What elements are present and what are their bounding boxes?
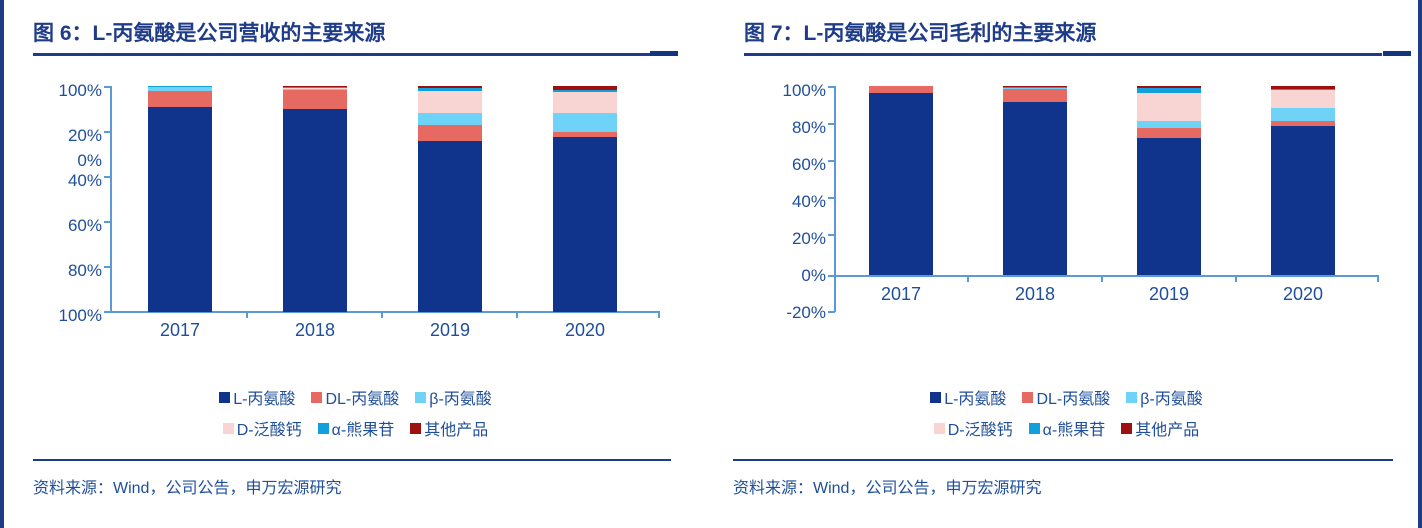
legend-item-l-alanine[interactable]: L-丙氨酸 [930,385,1006,409]
legend-row: D-泛酸钙 α-熊果苷 其他产品 [0,416,711,440]
legend-row: L-丙氨酸 DL-丙氨酸 β-丙氨酸 [0,385,711,409]
bar-2019 [1137,86,1201,275]
segment-l-alanine [1271,126,1335,275]
footer-divider [733,459,1393,461]
figure-panel-left: 图 6：L-丙氨酸是公司营收的主要来源 0% 100% 80% 60% 40% … [0,0,711,528]
y-tick-label: 20% [22,126,102,146]
x-axis-tick [381,311,383,318]
segment-l-alanine [148,107,212,312]
page-title: 图 7：L-丙氨酸是公司毛利的主要来源 [744,17,1096,47]
x-axis-tick [246,311,248,318]
segment-d-pantothenate [1137,93,1201,121]
legend-item-dl-alanine[interactable]: DL-丙氨酸 [1022,385,1110,409]
legend-label: L-丙氨酸 [233,385,295,409]
chart-legend: L-丙氨酸 DL-丙氨酸 β-丙氨酸 D-泛酸钙 α-熊果苷 [0,385,711,447]
title-divider [33,53,671,56]
bar-2020 [553,86,617,312]
segment-l-alanine [418,141,482,312]
segment-d-pantothenate [1271,90,1335,108]
y-axis-tick [828,86,835,88]
y-tick-label: 100% [721,81,826,101]
x-tick-label: 2019 [400,320,500,341]
y-tick-label: 20% [721,229,826,249]
legend-swatch-icon [415,392,426,403]
y-tick-label: 80% [721,118,826,138]
legend-item-other[interactable]: 其他产品 [1121,416,1199,440]
y-tick-label: 100% [22,81,102,101]
segment-dl-alanine [418,125,482,141]
legend-label: L-丙氨酸 [944,385,1006,409]
bar-2019 [418,86,482,312]
x-axis-tick [1101,275,1103,282]
figure-page: 图 6：L-丙氨酸是公司营收的主要来源 0% 100% 80% 60% 40% … [0,0,1422,528]
legend-swatch-icon [1029,423,1040,434]
legend-label: D-泛酸钙 [948,416,1013,440]
x-tick-label: 2019 [1119,284,1219,305]
legend-swatch-icon [318,423,329,434]
x-axis-tick [516,311,518,318]
y-axis-tick [828,123,835,125]
legend-swatch-icon [1126,392,1137,403]
bar-2020 [1271,86,1335,275]
segment-dl-alanine [869,86,933,93]
legend-item-alpha-arbutin[interactable]: α-熊果苷 [1029,416,1106,440]
segment-dl-alanine [283,90,347,109]
chart-revenue-mix: 0% 100% 80% 60% 40% 20% 100% [0,70,711,360]
segment-dl-alanine [148,91,212,106]
y-axis-line [110,86,112,312]
source-note: 资料来源：Wind，公司公告，申万宏源研究 [33,474,341,498]
legend-item-dl-alanine[interactable]: DL-丙氨酸 [311,385,399,409]
figure-panel-right: 图 7：L-丙氨酸是公司毛利的主要来源 100% 80% 60% 40% 20%… [711,0,1422,528]
y-tick-label: 0% [22,151,102,171]
x-tick-label: 2020 [1253,284,1353,305]
legend-item-d-pantothenate[interactable]: D-泛酸钙 [934,416,1013,440]
y-tick-label: 0% [721,266,826,286]
x-tick-label: 2018 [985,284,1085,305]
legend-swatch-icon [1022,392,1033,403]
y-tick-label: 40% [22,171,102,191]
title-accent-mark [1383,51,1411,56]
segment-d-pantothenate [553,92,617,113]
x-axis-tick [1377,275,1379,282]
y-axis-tick [828,197,835,199]
title-divider [744,53,1382,56]
x-tick-label: 2017 [851,284,951,305]
y-axis-tick [104,221,111,223]
legend-label: D-泛酸钙 [237,416,302,440]
chart-gross-profit-mix: 100% 80% 60% 40% 20% 0% -20% [711,70,1422,370]
segment-l-alanine [553,137,617,312]
chart-legend: L-丙氨酸 DL-丙氨酸 β-丙氨酸 D-泛酸钙 α-熊果苷 [711,385,1422,447]
y-axis-tick [828,234,835,236]
y-axis-tick [104,176,111,178]
legend-row: L-丙氨酸 DL-丙氨酸 β-丙氨酸 [711,385,1422,409]
segment-l-alanine [1137,138,1201,275]
legend-label: 其他产品 [424,416,488,440]
legend-label: β-丙氨酸 [1140,385,1203,409]
legend-label: β-丙氨酸 [429,385,492,409]
legend-label: 其他产品 [1135,416,1199,440]
title-accent-mark [650,51,678,56]
legend-item-d-pantothenate[interactable]: D-泛酸钙 [223,416,302,440]
legend-label: α-熊果苷 [1043,416,1106,440]
x-tick-label: 2020 [535,320,635,341]
y-axis-tick [104,311,111,313]
legend-swatch-icon [410,423,421,434]
source-note: 资料来源：Wind，公司公告，申万宏源研究 [733,474,1041,498]
legend-swatch-icon [311,392,322,403]
page-title: 图 6：L-丙氨酸是公司营收的主要来源 [33,17,385,47]
y-axis-line [834,86,836,312]
segment-beta-alanine [553,113,617,132]
y-tick-label: -20% [721,303,826,323]
segment-dl-alanine [1137,128,1201,139]
legend-swatch-icon [1121,423,1132,434]
y-tick-label: 40% [721,192,826,212]
y-tick-label: 60% [22,216,102,236]
segment-d-pantothenate [418,91,482,114]
legend-label: α-熊果苷 [332,416,395,440]
legend-item-other[interactable]: 其他产品 [410,416,488,440]
x-axis-tick [1235,275,1237,282]
page-edge-accent-right [1418,0,1422,528]
y-tick-label: 60% [721,155,826,175]
legend-swatch-icon [219,392,230,403]
legend-swatch-icon [930,392,941,403]
legend-item-beta-alanine[interactable]: β-丙氨酸 [415,385,492,409]
bar-2018 [283,86,347,312]
footer-divider [33,459,671,461]
y-axis-tick [104,86,111,88]
segment-l-alanine [1003,102,1067,275]
y-axis-tick [828,311,835,313]
bar-2018 [1003,86,1067,275]
legend-label: DL-丙氨酸 [325,385,399,409]
segment-beta-alanine [1271,108,1335,122]
y-axis-tick [828,160,835,162]
page-edge-accent-left [0,0,4,528]
segment-l-alanine [869,93,933,275]
legend-swatch-icon [223,423,234,434]
y-tick-label: 80% [22,261,102,281]
x-tick-label: 2017 [130,320,230,341]
y-tick-label: 100% [22,306,102,326]
legend-label: DL-丙氨酸 [1036,385,1110,409]
legend-swatch-icon [934,423,945,434]
x-axis-line [834,275,1379,277]
x-axis-tick [967,275,969,282]
y-axis-tick [104,266,111,268]
legend-item-beta-alanine[interactable]: β-丙氨酸 [1126,385,1203,409]
segment-dl-alanine [1003,89,1067,102]
legend-row: D-泛酸钙 α-熊果苷 其他产品 [711,416,1422,440]
bar-2017 [148,86,212,312]
legend-item-l-alanine[interactable]: L-丙氨酸 [219,385,295,409]
legend-item-alpha-arbutin[interactable]: α-熊果苷 [318,416,395,440]
segment-beta-alanine [418,113,482,125]
y-axis-tick [828,275,835,277]
y-axis-tick [104,131,111,133]
x-axis-tick [658,311,660,318]
segment-l-alanine [283,109,347,312]
bar-2017 [869,86,933,275]
x-tick-label: 2018 [265,320,365,341]
